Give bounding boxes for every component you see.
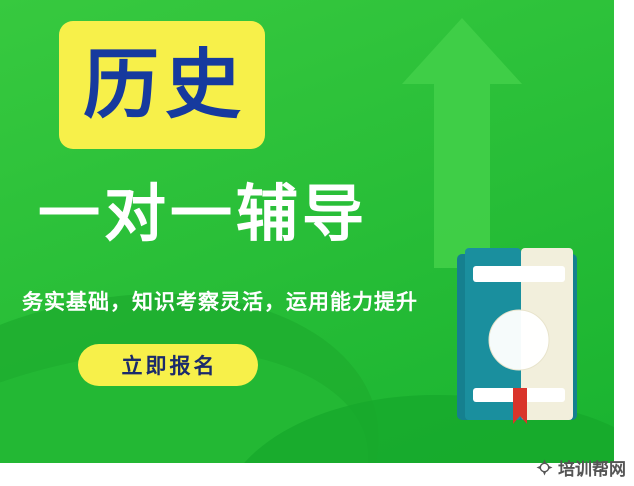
site-watermark: 培训帮网 bbox=[535, 455, 626, 480]
signup-button-label: 立即报名 bbox=[119, 350, 218, 380]
book-icon bbox=[455, 248, 583, 426]
subject-title-box: 历史 bbox=[59, 21, 265, 149]
watermark-text: 培训帮网 bbox=[558, 455, 626, 480]
logo-mark-icon bbox=[535, 458, 554, 477]
subtitle-text: 务实基础，知识考察灵活，运用能力提升 bbox=[22, 286, 472, 316]
banner-background: 历史 一对一辅导 务实基础，知识考察灵活，运用能力提升 立即报名 bbox=[0, 0, 614, 463]
signup-button[interactable]: 立即报名 bbox=[78, 344, 258, 386]
headline-text: 一对一辅导 bbox=[38, 183, 468, 245]
subject-label: 历史 bbox=[77, 47, 247, 123]
training-ad-banner: 历史 一对一辅导 务实基础，知识考察灵活，运用能力提升 立即报名 bbox=[0, 0, 634, 486]
